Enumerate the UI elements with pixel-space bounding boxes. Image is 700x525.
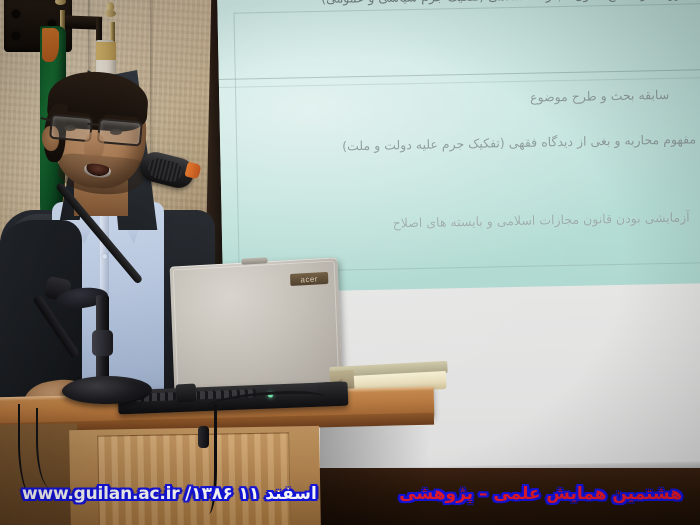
slide-bullet-1: سابقه بحث و طرح موضوع [530,87,669,105]
flag-green-accent [42,28,59,62]
acer-logo-text: acer [300,274,318,284]
podium-cast-shadow [320,426,430,525]
caption-url-and-date: www.guilan.ac.ir /۱۳۸۶ اسفند ۱۱ [22,484,317,504]
flag-white-stripe [96,42,116,60]
microphone-stand-collar [92,330,113,356]
podium-front-body [69,426,321,525]
laptop-hinge-left [176,383,197,402]
bracket-bolt [12,10,20,18]
caption-event-title: هشتمین همایش علمی – پژوهشی [399,484,682,504]
bracket-bolt [12,32,20,40]
microphone-stand-base [62,378,146,404]
photo-canvas: ام های لرزان در اصلاح قانون مجازات اسلام… [0,0,700,525]
projected-slide-area: ام های لرزان در اصلاح قانون مجازات اسلام… [217,0,700,293]
flag-finial-white [104,2,117,26]
podium-wood-panel [97,432,291,525]
acer-logo-badge: acer [290,272,328,286]
laptop-lid: acer [170,257,343,396]
cable-ferrite-bead [198,426,209,448]
flag-finial-green [54,0,67,14]
